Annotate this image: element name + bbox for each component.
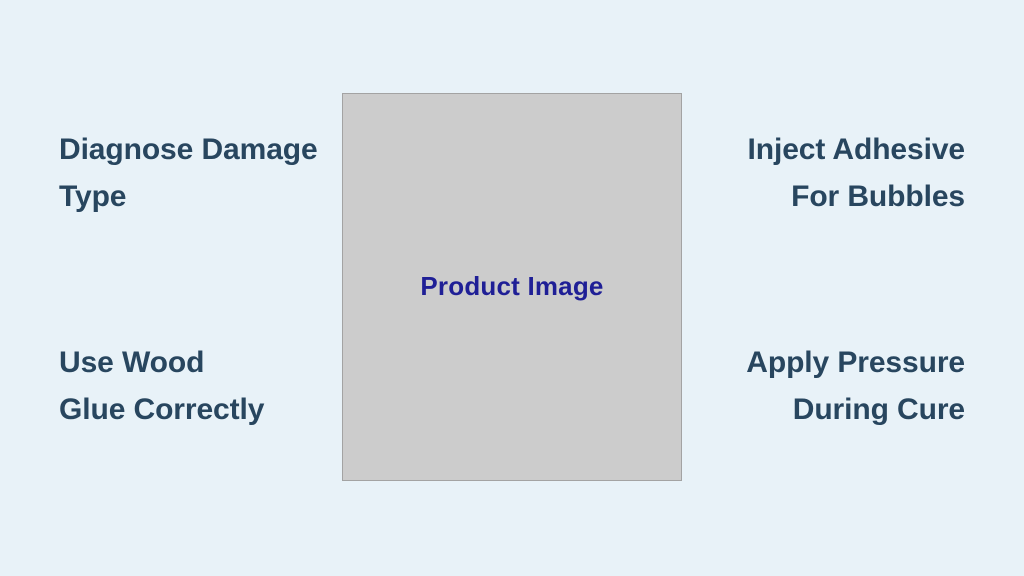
callout-top-right-line-2: For Bubbles xyxy=(645,173,965,220)
callout-top-right-line-1: Inject Adhesive xyxy=(645,126,965,173)
callout-bottom-left-line-1: Use Wood xyxy=(59,339,359,386)
product-image-label: Product Image xyxy=(420,271,603,302)
callout-bottom-left: Use Wood Glue Correctly xyxy=(59,339,359,433)
callout-top-left-line-1: Diagnose Damage xyxy=(59,126,359,173)
product-image-placeholder: Product Image xyxy=(342,93,682,481)
callout-bottom-left-line-2: Glue Correctly xyxy=(59,386,359,433)
callout-bottom-right-line-1: Apply Pressure xyxy=(645,339,965,386)
callout-top-left-line-2: Type xyxy=(59,173,359,220)
callout-bottom-right: Apply Pressure During Cure xyxy=(645,339,965,433)
callout-bottom-right-line-2: During Cure xyxy=(645,386,965,433)
callout-top-right: Inject Adhesive For Bubbles xyxy=(645,126,965,220)
callout-top-left: Diagnose Damage Type xyxy=(59,126,359,220)
slide-canvas: Diagnose Damage Type Inject Adhesive For… xyxy=(0,0,1024,576)
